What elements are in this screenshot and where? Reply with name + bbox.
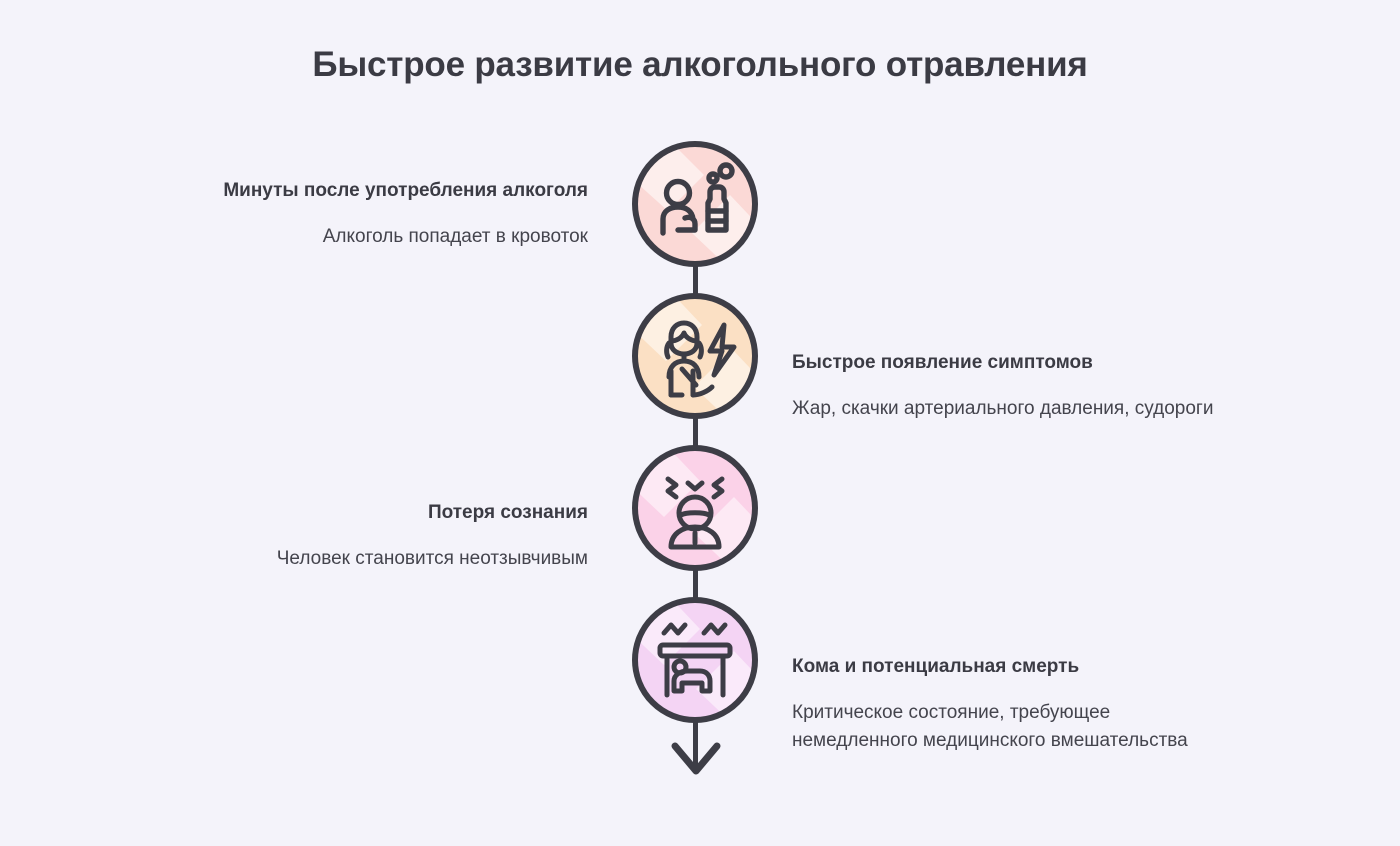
step-node-4[interactable] <box>632 597 758 723</box>
step-node-2[interactable] <box>632 293 758 419</box>
person-with-lightning-icon <box>638 299 752 413</box>
dizzy-person-icon <box>638 451 752 565</box>
step-title-4: Кома и потенциальная смерть <box>792 654 1222 681</box>
step-description-1: Алкоголь попадает в кровоток <box>188 223 588 251</box>
step-node-1[interactable] <box>632 141 758 267</box>
person-on-hospital-bed-icon <box>638 603 752 717</box>
person-with-bottle-icon <box>638 147 752 261</box>
step-text-3: Потеря сознания Человек становится неотз… <box>182 500 588 573</box>
down-arrow-icon <box>668 740 724 782</box>
step-node-3[interactable] <box>632 445 758 571</box>
step-title-2: Быстрое появление симптомов <box>792 350 1244 377</box>
step-text-2: Быстрое появление симптомов Жар, скачки … <box>792 350 1244 423</box>
step-description-3: Человек становится неотзывчивым <box>182 545 588 573</box>
step-description-2: Жар, скачки артериального давления, судо… <box>792 395 1244 423</box>
step-description-4: Критическое состояние, требующее немедле… <box>792 699 1222 754</box>
step-title-1: Минуты после употребления алкоголя <box>188 178 588 205</box>
step-title-3: Потеря сознания <box>182 500 588 527</box>
step-text-4: Кома и потенциальная смерть Критическое … <box>792 654 1222 754</box>
step-text-1: Минуты после употребления алкоголя Алког… <box>188 178 588 251</box>
